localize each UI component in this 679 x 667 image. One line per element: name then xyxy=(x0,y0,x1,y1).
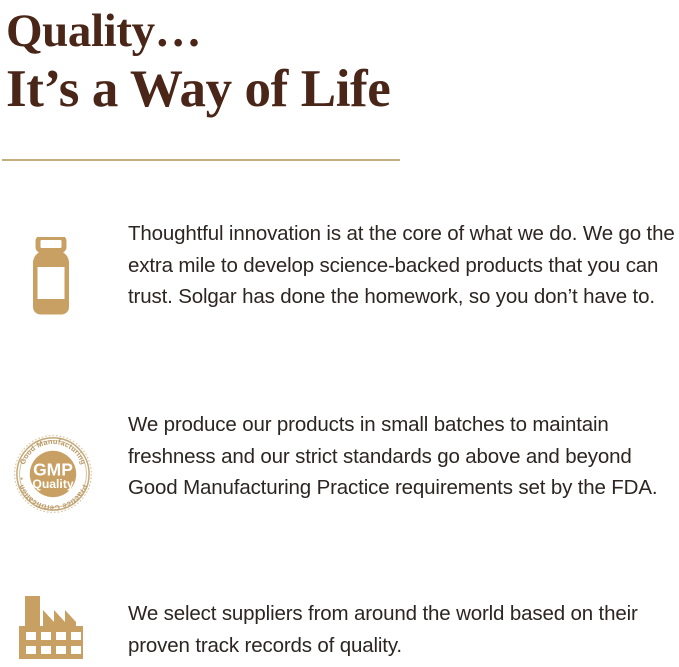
page-title-line-2: It’s a Way of Life xyxy=(6,58,666,120)
gmp-quality-seal-icon: Good Manufacturing Practice Certificatio… xyxy=(13,434,93,519)
feature-text-gmp: We produce our products in small batches… xyxy=(128,409,679,504)
supplement-bottle-icon xyxy=(22,237,80,320)
feature-row-bottle: Thoughtful innovation is at the core of … xyxy=(0,218,679,320)
icon-cell xyxy=(0,598,128,667)
feature-text-factory: We select suppliers from around the worl… xyxy=(128,598,679,661)
page-title-line-1: Quality… xyxy=(6,4,666,58)
feature-text-bottle: Thoughtful innovation is at the core of … xyxy=(128,218,679,313)
feature-row-gmp: Good Manufacturing Practice Certificatio… xyxy=(0,409,679,519)
page-title: Quality… It’s a Way of Life xyxy=(6,4,666,120)
factory-icon xyxy=(17,590,93,667)
feature-row-factory: We select suppliers from around the worl… xyxy=(0,598,679,667)
gmp-center-line-2: Quality xyxy=(32,477,74,491)
icon-cell: Good Manufacturing Practice Certificatio… xyxy=(0,409,128,519)
divider xyxy=(2,159,400,161)
icon-cell xyxy=(0,218,128,320)
